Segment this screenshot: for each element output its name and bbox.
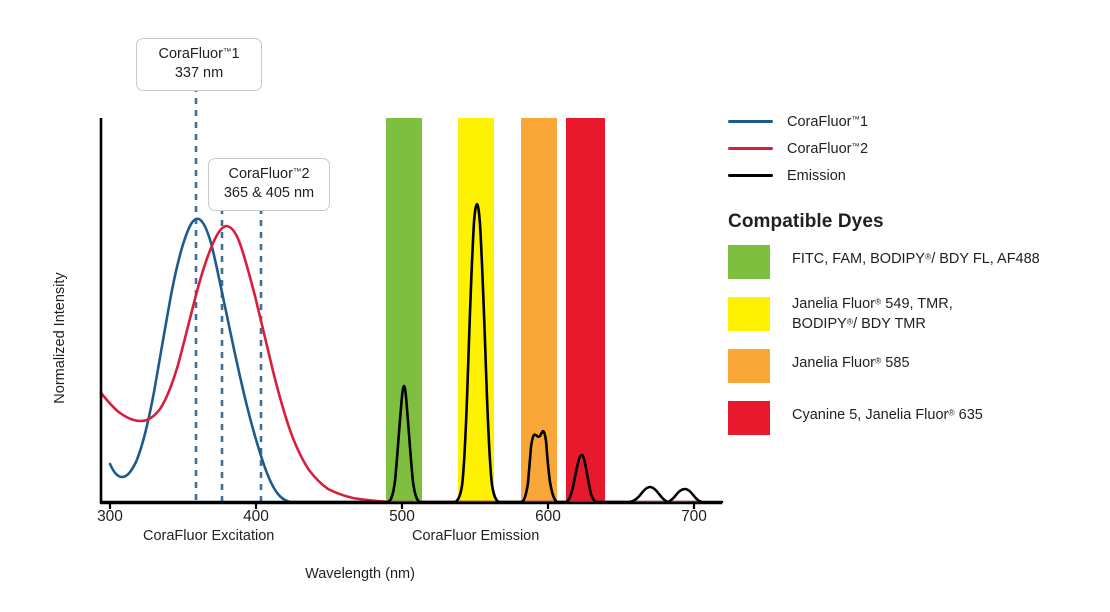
legend-line-swatch-blue — [728, 120, 773, 123]
callout-corafluor-2: CoraFluor™2 365 & 405 nm — [208, 158, 330, 211]
x-tick-600: 600 — [518, 508, 578, 526]
fluorescence-spectra-figure: CoraFluor™1 337 nm CoraFluor™2 365 & 405… — [0, 0, 1110, 612]
legend-line-swatch-red — [728, 147, 773, 150]
trademark-icon: ™ — [851, 141, 860, 151]
legend-series-corafluor-2: CoraFluor™2 — [728, 135, 1100, 162]
x-tick-700: 700 — [664, 508, 724, 526]
x-tick-400: 400 — [226, 508, 286, 526]
legend-series-emission-label: Emission — [787, 168, 846, 184]
dye-swatch-red — [728, 401, 770, 435]
dye-label-yellow: Janelia Fluor® 549, TMR,BODIPY®/ BDY TMR — [792, 295, 953, 334]
region-label-excitation: CoraFluor Excitation — [143, 528, 274, 544]
legend-series-corafluor-1: CoraFluor™1 — [728, 108, 1100, 135]
dye-swatch-orange — [728, 349, 770, 383]
band-orange — [521, 118, 557, 502]
legend-series-emission: Emission — [728, 162, 1100, 189]
dye-row-red: Cyanine 5, Janelia Fluor® 635 — [728, 399, 1100, 443]
region-label-emission: CoraFluor Emission — [412, 528, 539, 544]
dye-row-orange: Janelia Fluor® 585 — [728, 347, 1100, 391]
excitation-markers — [196, 86, 261, 502]
callout-corafluor-1-title: CoraFluor™1 — [147, 45, 251, 64]
x-tick-500: 500 — [372, 508, 432, 526]
dye-label-red: Cyanine 5, Janelia Fluor® 635 — [792, 399, 983, 426]
trademark-icon: ™ — [851, 114, 860, 124]
dye-label-orange: Janelia Fluor® 585 — [792, 347, 910, 374]
legend-panel: CoraFluor™1 CoraFluor™2 Emission Compati… — [728, 108, 1100, 443]
y-axis-title: Normalized Intensity — [52, 248, 68, 428]
callout-corafluor-1: CoraFluor™1 337 nm — [136, 38, 262, 91]
dye-swatch-green — [728, 245, 770, 279]
callout-corafluor-2-title: CoraFluor™2 — [219, 165, 319, 184]
x-axis-title: Wavelength (nm) — [0, 566, 720, 582]
band-red — [566, 118, 605, 502]
legend-series-corafluor-2-label: CoraFluor™2 — [787, 141, 868, 157]
dye-row-green: FITC, FAM, BODIPY®/ BDY FL, AF488 — [728, 243, 1100, 287]
band-green — [386, 118, 422, 502]
x-tick-300: 300 — [80, 508, 140, 526]
compatible-dyes-heading: Compatible Dyes — [728, 211, 1100, 233]
dye-label-green: FITC, FAM, BODIPY®/ BDY FL, AF488 — [792, 243, 1040, 270]
legend-line-swatch-black — [728, 174, 773, 177]
legend-series-corafluor-1-label: CoraFluor™1 — [787, 114, 868, 130]
callout-corafluor-2-value: 365 & 405 nm — [219, 184, 319, 203]
emission-bands — [386, 118, 605, 502]
callout-corafluor-1-value: 337 nm — [147, 64, 251, 83]
dye-swatch-yellow — [728, 297, 770, 331]
dye-row-yellow: Janelia Fluor® 549, TMR,BODIPY®/ BDY TMR — [728, 295, 1100, 339]
